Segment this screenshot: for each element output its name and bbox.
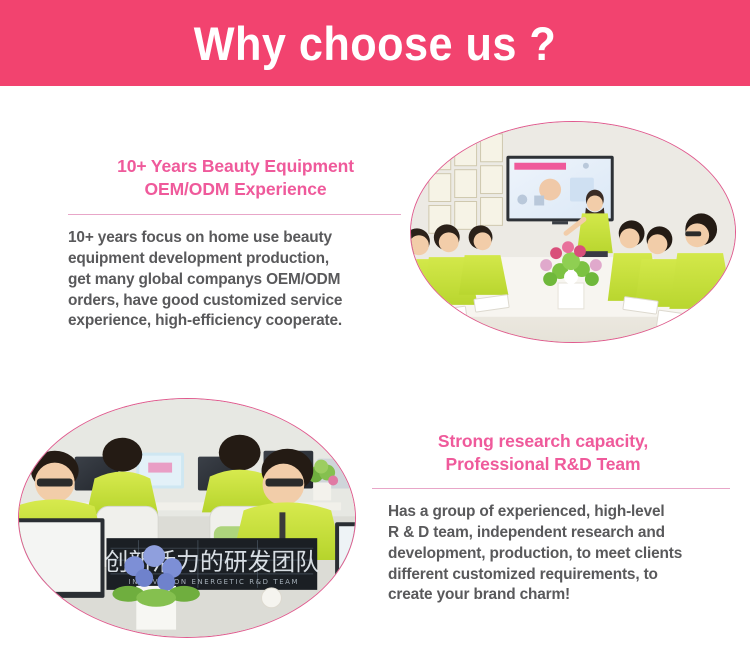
page-header-banner: Why choose us ? bbox=[0, 0, 750, 86]
meeting-room-illustration bbox=[411, 122, 735, 342]
block-experience-body: 10+ years focus on home use beauty equip… bbox=[68, 228, 398, 332]
block-experience-text: 10+ Years Beauty Equipment OEM/ODM Exper… bbox=[68, 155, 403, 332]
block-research-heading: Strong research capacity, Professional R… bbox=[372, 430, 732, 476]
meeting-room-photo bbox=[410, 121, 736, 343]
overlay-text-en: INNOVATION ENERGETIC R&D TEAM bbox=[129, 578, 300, 586]
block-research-divider bbox=[372, 488, 730, 489]
meeting-room-photo-inner bbox=[411, 122, 735, 342]
rnd-office-photo-inner: 创新活力的研发团队 INNOVATION ENERGETIC R&D TEAM bbox=[19, 399, 355, 637]
why-choose-us-page: Why choose us ? 10+ Years Beauty Equipme… bbox=[0, 0, 750, 652]
page-title: Why choose us ? bbox=[194, 20, 556, 67]
block-research-text: Strong research capacity, Professional R… bbox=[372, 430, 732, 606]
block-experience-divider bbox=[68, 214, 401, 215]
rnd-office-photo: 创新活力的研发团队 INNOVATION ENERGETIC R&D TEAM bbox=[18, 398, 356, 638]
block-research-body: Has a group of experienced, high-level R… bbox=[388, 502, 733, 606]
rnd-office-illustration: 创新活力的研发团队 INNOVATION ENERGETIC R&D TEAM bbox=[19, 399, 355, 637]
block-experience-heading: 10+ Years Beauty Equipment OEM/ODM Exper… bbox=[68, 155, 403, 201]
